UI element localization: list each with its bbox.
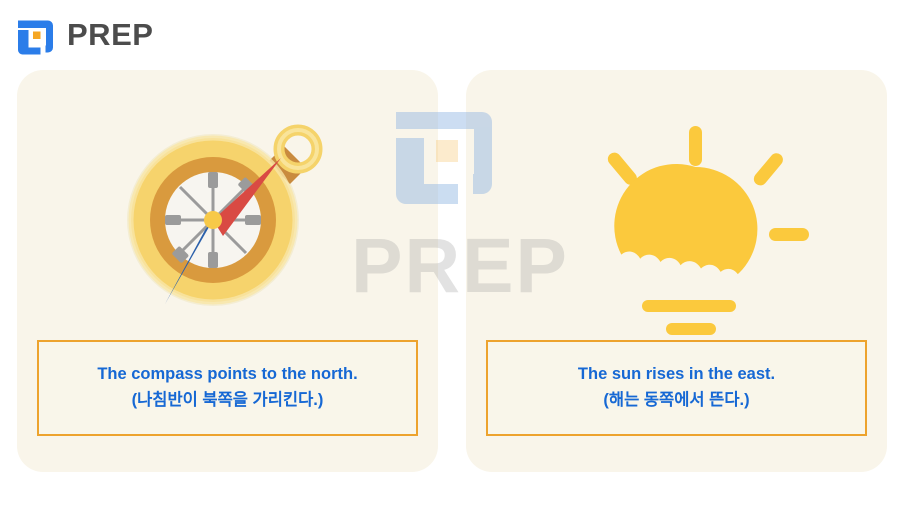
caption-box-compass: The compass points to the north. (나침반이 북… xyxy=(37,340,418,436)
caption-english: The sun rises in the east. xyxy=(578,362,775,388)
caption-korean: (나침반이 북쪽을 가리킨다.) xyxy=(132,388,324,414)
prep-logo-icon xyxy=(14,12,58,56)
card-compass: The compass points to the north. (나침반이 북… xyxy=(17,70,438,472)
brand-name: PREP xyxy=(67,19,153,50)
caption-english: The compass points to the north. xyxy=(97,362,357,388)
card-sunrise: The sun rises in the east. (해는 동쪽에서 뜬다.) xyxy=(466,70,887,472)
compass-icon xyxy=(17,88,438,338)
brand-header: PREP xyxy=(14,12,153,56)
sunrise-icon xyxy=(466,88,887,338)
caption-korean: (해는 동쪽에서 뜬다.) xyxy=(603,388,749,414)
caption-box-sunrise: The sun rises in the east. (해는 동쪽에서 뜬다.) xyxy=(486,340,867,436)
